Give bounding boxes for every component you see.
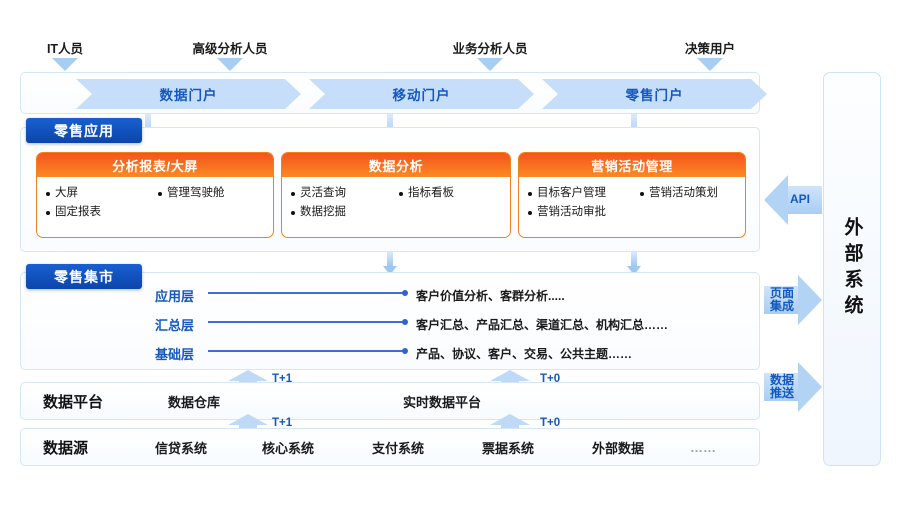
app-card-report-item-0: 大屏: [46, 185, 158, 202]
data-source-title: 数据源: [43, 437, 155, 458]
data-platform-title: 数据平台: [43, 391, 168, 412]
mart-layer-dot-base: [402, 348, 408, 354]
mart-layer-desc-summary: 客户汇总、产品汇总、渠道汇总、机构汇总……: [416, 316, 668, 333]
persona-label-decision-user: 决策用户: [650, 38, 770, 57]
mart-layer-line-base: [208, 350, 404, 352]
external-system-label: 外部系统: [843, 217, 862, 321]
bullet-text: 目标客户管理: [537, 185, 606, 202]
app-card-report-item-2: 固定报表: [46, 204, 158, 221]
persona-label-it: IT人员: [10, 38, 120, 57]
data-source-cell-external[interactable]: 外部数据: [592, 438, 690, 457]
bullet-dot: [291, 192, 295, 196]
persona-arrow-senior-analyst: [217, 58, 243, 71]
mart-layer-name-application: 应用层: [155, 286, 194, 305]
app-card-marketing[interactable]: 营销活动管理 目标客户管理 营销活动策划 营销活动审批: [518, 152, 746, 238]
data-source-cell-payment[interactable]: 支付系统: [372, 438, 482, 457]
bullet-dot: [399, 192, 403, 196]
mart-layer-desc-base: 产品、协议、客户、交易、公共主题……: [416, 345, 632, 362]
connector-page-integration: 页面 集成: [764, 275, 822, 325]
connector-api: API: [764, 175, 822, 225]
data-platform-row: 数据平台 数据仓库 实时数据平台: [20, 382, 760, 420]
bullet-text: 指标看板: [408, 185, 454, 202]
flow-arrow-source-to-platform-2: [490, 414, 530, 429]
app-card-marketing-item-1: 营销活动策划: [640, 185, 736, 202]
app-card-report-title: 分析报表/大屏: [37, 153, 273, 177]
retail-application-tag: 零售应用: [26, 118, 142, 143]
app-card-report[interactable]: 分析报表/大屏 大屏 管理驾驶舱 固定报表: [36, 152, 274, 238]
persona-label-business-analyst: 业务分析人员: [425, 38, 555, 57]
mart-layer-dot-summary: [402, 319, 408, 325]
app-card-analysis-item-1: 指标看板: [399, 185, 499, 202]
flow-arrow-app-to-mart-1: [383, 252, 397, 274]
data-platform-cell-realtime[interactable]: 实时数据平台: [403, 392, 643, 411]
bullet-text: 管理驾驶舱: [167, 185, 225, 202]
bullet-text: 数据挖掘: [300, 204, 346, 221]
connector-page-integration-label: 页面 集成: [764, 287, 800, 313]
data-source-cell-core[interactable]: 核心系统: [262, 438, 372, 457]
portal-chevron-data[interactable]: 数据门户: [76, 79, 301, 109]
bullet-text: 大屏: [55, 185, 78, 202]
mart-layer-line-summary: [208, 321, 404, 323]
portal-band: 数据门户 移动门户 零售门户: [20, 72, 760, 114]
retail-mart-tag: 零售集市: [26, 264, 142, 289]
connector-data-push: 数据 推送: [764, 362, 822, 412]
app-card-report-item-1: 管理驾驶舱: [158, 185, 264, 202]
app-card-marketing-item-2: 营销活动审批: [528, 204, 640, 221]
flow-arrow-source-to-platform-1: [228, 414, 268, 429]
data-source-cell-credit[interactable]: 信贷系统: [155, 438, 262, 457]
mart-layer-name-base: 基础层: [155, 344, 194, 363]
connector-api-label: API: [782, 193, 818, 206]
bullet-dot: [46, 192, 50, 196]
data-platform-cell-warehouse[interactable]: 数据仓库: [168, 392, 403, 411]
data-source-cell-more: ……: [690, 440, 716, 455]
data-source-row: 数据源 信贷系统 核心系统 支付系统 票据系统 外部数据 ……: [20, 428, 760, 466]
architecture-diagram: IT人员 高级分析人员 业务分析人员 决策用户 数据门户 移动门户 零售门户 零…: [0, 0, 900, 517]
app-card-marketing-item-0: 目标客户管理: [528, 185, 640, 202]
bullet-text: 营销活动策划: [649, 185, 718, 202]
mart-layer-desc-application: 客户价值分析、客群分析.....: [416, 287, 565, 304]
app-card-analysis-item-0: 灵活查询: [291, 185, 399, 202]
persona-arrow-it: [52, 58, 78, 71]
bullet-dot: [528, 192, 532, 196]
portal-chevron-retail[interactable]: 零售门户: [542, 79, 767, 109]
app-card-analysis[interactable]: 数据分析 灵活查询 指标看板 数据挖掘: [281, 152, 511, 238]
bullet-dot: [640, 192, 644, 196]
bullet-dot: [158, 192, 162, 196]
mart-layer-line-application: [208, 292, 404, 294]
persona-label-senior-analyst: 高级分析人员: [165, 38, 295, 57]
portal-chevron-mobile[interactable]: 移动门户: [309, 79, 534, 109]
bullet-dot: [46, 211, 50, 215]
flow-arrow-app-to-mart-2: [627, 252, 641, 274]
persona-arrow-business-analyst: [477, 58, 503, 71]
bullet-text: 营销活动审批: [537, 204, 606, 221]
app-card-analysis-item-2: 数据挖掘: [291, 204, 399, 221]
bullet-text: 固定报表: [55, 204, 101, 221]
data-source-cell-bill[interactable]: 票据系统: [482, 438, 592, 457]
mart-layer-name-summary: 汇总层: [155, 315, 194, 334]
connector-data-push-label: 数据 推送: [764, 374, 800, 400]
persona-arrow-decision-user: [697, 58, 723, 71]
bullet-text: 灵活查询: [300, 185, 346, 202]
bullet-dot: [528, 211, 532, 215]
app-card-marketing-title: 营销活动管理: [519, 153, 745, 177]
bullet-dot: [291, 211, 295, 215]
external-system-box: 外部系统: [823, 72, 881, 466]
app-card-analysis-title: 数据分析: [282, 153, 510, 177]
mart-layer-dot-application: [402, 290, 408, 296]
